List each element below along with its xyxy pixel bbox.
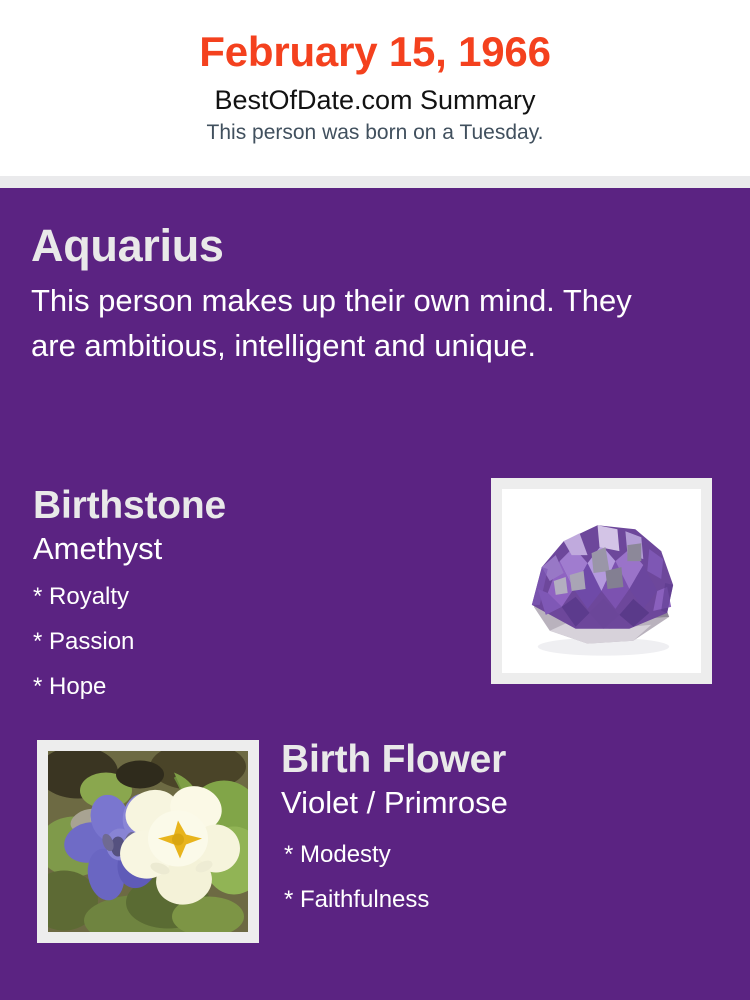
zodiac-sign-title: Aquarius — [31, 220, 691, 272]
birth-flower-trait-list: * Modesty * Faithfulness — [281, 822, 731, 922]
flower-illustration — [48, 751, 248, 932]
zodiac-section: Aquarius This person makes up their own … — [31, 220, 691, 368]
amethyst-illustration — [502, 489, 701, 673]
birth-flower-section: Birth Flower Violet / Primrose * Modesty… — [281, 737, 731, 922]
header: February 15, 1966 BestOfDate.com Summary… — [0, 0, 750, 176]
content-panel: Aquarius This person makes up their own … — [0, 188, 750, 1000]
birthstone-section: Birthstone Amethyst * Royalty * Passion … — [33, 483, 463, 709]
birthstone-title: Birthstone — [33, 483, 463, 529]
birth-flower-image-frame — [37, 740, 259, 943]
birthstone-image-frame — [491, 478, 712, 684]
list-item: * Modesty — [284, 832, 731, 877]
header-divider — [0, 176, 750, 188]
page-title-date: February 15, 1966 — [0, 0, 750, 77]
violet-and-primrose-flowers-photo — [48, 751, 248, 932]
birth-flower-title: Birth Flower — [281, 737, 731, 783]
summary-card: February 15, 1966 BestOfDate.com Summary… — [0, 0, 750, 1000]
birth-day-of-week-text: This person was born on a Tuesday. — [0, 117, 750, 146]
list-item: * Faithfulness — [284, 877, 731, 922]
list-item: * Passion — [33, 619, 463, 664]
birth-flower-value: Violet / Primrose — [281, 783, 731, 822]
birthstone-trait-list: * Royalty * Passion * Hope — [33, 568, 463, 709]
site-name: BestOfDate.com Summary — [0, 77, 750, 117]
birthstone-value: Amethyst — [33, 529, 463, 568]
list-item: * Royalty — [33, 574, 463, 619]
zodiac-description: This person makes up their own mind. The… — [31, 272, 671, 368]
list-item: * Hope — [33, 664, 463, 709]
amethyst-crystal-cluster-photo — [502, 489, 701, 673]
